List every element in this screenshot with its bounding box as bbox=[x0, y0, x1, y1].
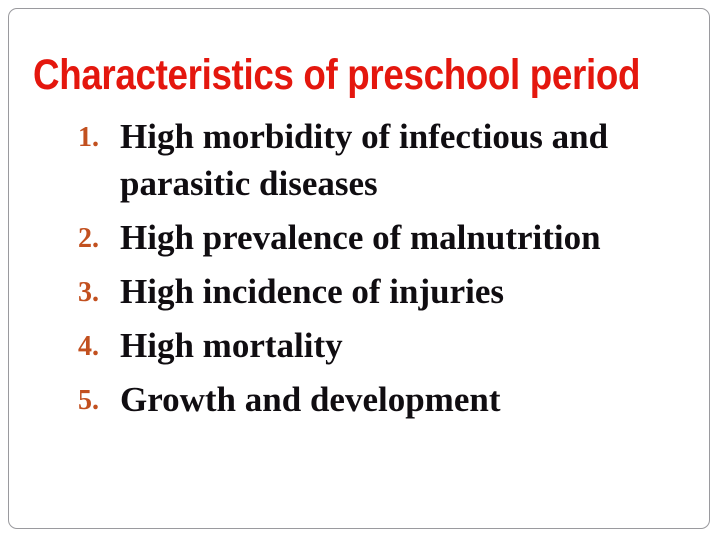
list-item-number: 3. bbox=[78, 268, 116, 317]
list-item-number: 5. bbox=[78, 376, 116, 425]
numbered-list: 1. High morbidity of infectious and para… bbox=[0, 113, 720, 430]
list-item: 2. High prevalence of malnutrition bbox=[0, 214, 720, 261]
list-item: 5. Growth and development bbox=[0, 376, 720, 423]
list-item: 1. High morbidity of infectious and para… bbox=[0, 113, 720, 207]
list-item-text: High mortality bbox=[120, 322, 685, 369]
list-item-text: High incidence of injuries bbox=[120, 268, 685, 315]
list-item: 3. High incidence of injuries bbox=[0, 268, 720, 315]
list-item-number: 1. bbox=[78, 113, 116, 162]
list-item-number: 2. bbox=[78, 214, 116, 263]
page-title: Characteristics of preschool period bbox=[33, 52, 580, 98]
list-item-text: Growth and development bbox=[120, 376, 685, 423]
list-item: 4. High mortality bbox=[0, 322, 720, 369]
slide-canvas: Characteristics of preschool period 1. H… bbox=[0, 0, 720, 540]
list-item-text: High prevalence of malnutrition bbox=[120, 214, 685, 261]
list-item-text: High morbidity of infectious and parasit… bbox=[120, 113, 620, 207]
list-item-number: 4. bbox=[78, 322, 116, 371]
